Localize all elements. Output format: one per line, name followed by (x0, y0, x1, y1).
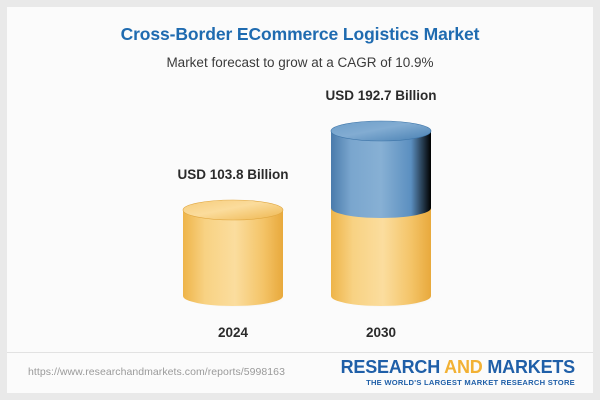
category-label-2030: 2030 (366, 325, 396, 340)
infographic-card: Cross-Border ECommerce Logistics Market … (0, 0, 600, 400)
chart-panel: Cross-Border ECommerce Logistics Market … (7, 7, 593, 393)
category-label-2024: 2024 (218, 325, 248, 340)
brand-word-and: AND (440, 357, 487, 377)
brand-name: RESEARCH AND MARKETS (341, 358, 575, 377)
value-label-2030: USD 192.7 Billion (325, 88, 436, 103)
cylinder-2024-shape (182, 199, 284, 307)
bar-group-2024: USD 103.8 Billion (182, 199, 284, 307)
brand-word-markets: MARKETS (487, 357, 575, 377)
cylinder-2030-shape (330, 120, 432, 307)
report-url[interactable]: https://www.researchandmarkets.com/repor… (28, 366, 285, 378)
cylinder-2024[interactable] (182, 199, 284, 307)
brand-word-research: RESEARCH (341, 357, 440, 377)
bar-group-2030: USD 192.7 Billion (330, 120, 432, 307)
brand-tagline: THE WORLD'S LARGEST MARKET RESEARCH STOR… (341, 378, 575, 387)
footer: https://www.researchandmarkets.com/repor… (7, 352, 593, 393)
value-label-2024: USD 103.8 Billion (177, 167, 288, 182)
plot-area: USD 103.8 Billion (7, 7, 593, 353)
cylinder-2030[interactable] (330, 120, 432, 307)
brand-logo[interactable]: RESEARCH AND MARKETS THE WORLD'S LARGEST… (341, 358, 575, 387)
